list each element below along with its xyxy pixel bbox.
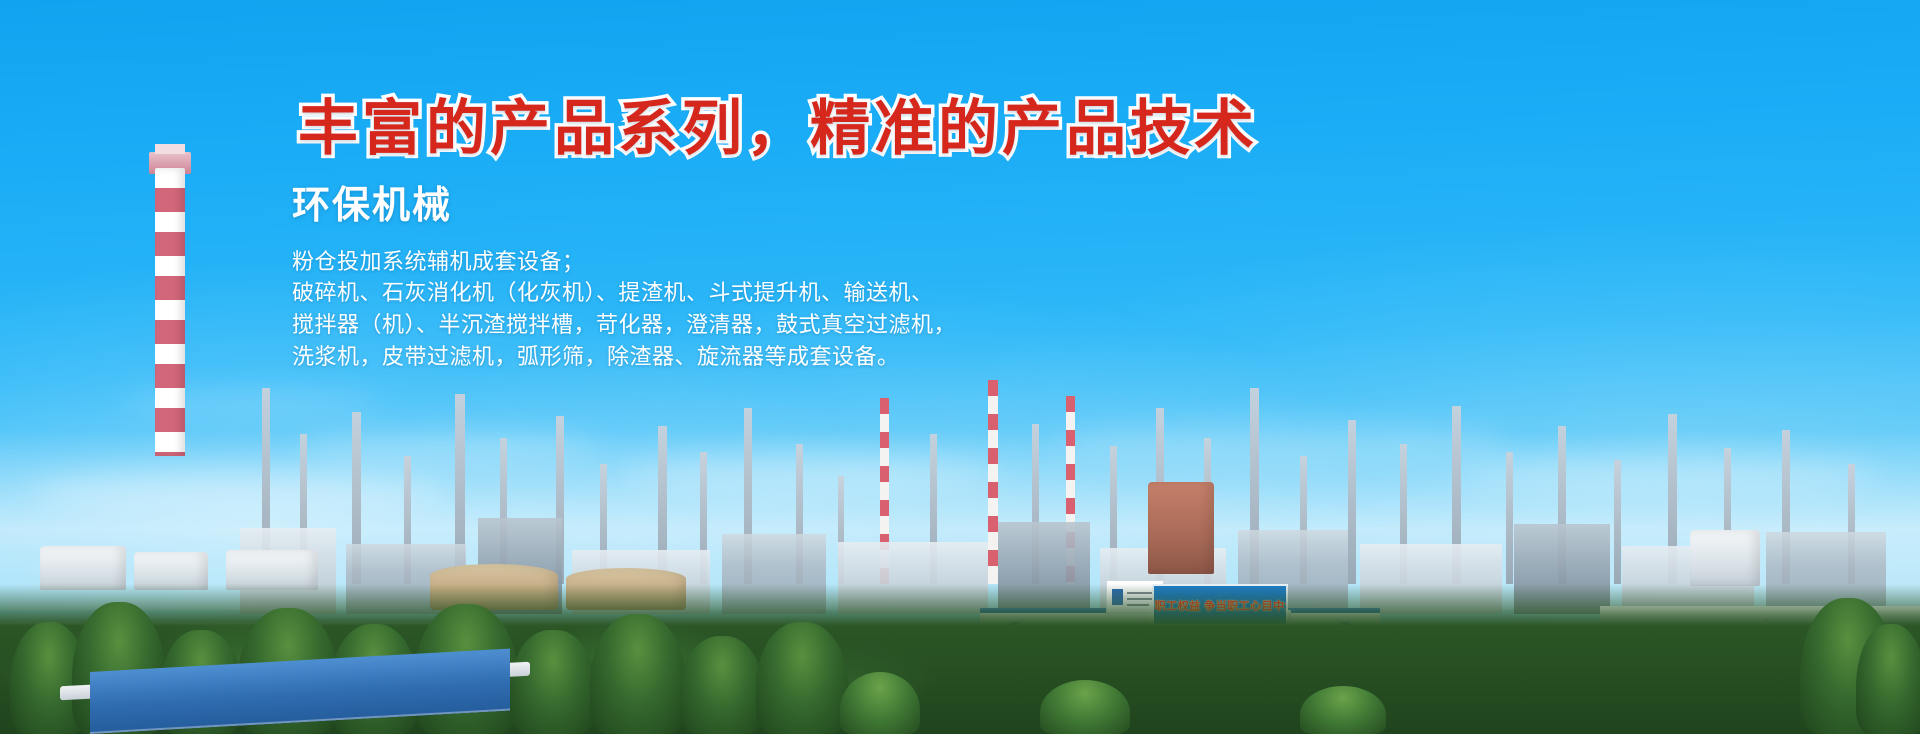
banner-subheading: 环保机械 [292, 184, 1288, 230]
banner-copy-block: 丰富的产品系列，精准的产品技术 环保机械 粉仓投加系统辅机成套设备； 破碎机、石… [288, 96, 1288, 373]
tree [1856, 624, 1920, 734]
distillation-stack [1348, 420, 1356, 584]
industrial-plant-scene: 爱护职工权益 争当职工心目中大化 [0, 394, 1920, 734]
body-line: 粉仓投加系统辅机成套设备； [292, 246, 1288, 278]
striped-chimney [155, 168, 185, 456]
tree [510, 630, 596, 734]
body-line: 破碎机、石灰消化机（化灰机）、提渣机、斗式提升机、输送机、 [292, 277, 1288, 309]
storage-tank [1148, 482, 1214, 574]
body-line: 搅拌器（机）、半沉渣搅拌槽，苛化器，澄清器，鼓式真空过滤机， [292, 309, 1288, 341]
tree [680, 636, 764, 734]
body-line: 洗浆机，皮带过滤机，弧形筛，除渣器、旋流器等成套设备。 [292, 341, 1288, 373]
red-white-stack [988, 380, 998, 584]
distillation-stack [1614, 460, 1621, 584]
banner-body-copy: 粉仓投加系统辅机成套设备； 破碎机、石灰消化机（化灰机）、提渣机、斗式提升机、输… [292, 246, 1288, 374]
tree [590, 614, 686, 734]
hero-banner: 爱护职工权益 争当职工心目中大化 丰富的产品系列，精准的产品技术 环保机械 粉仓… [0, 0, 1920, 734]
tree [756, 622, 848, 734]
distillation-stack [1506, 452, 1513, 584]
banner-headline: 丰富的产品系列，精准的产品技术 [298, 96, 1288, 162]
storage-tank [1690, 530, 1760, 586]
